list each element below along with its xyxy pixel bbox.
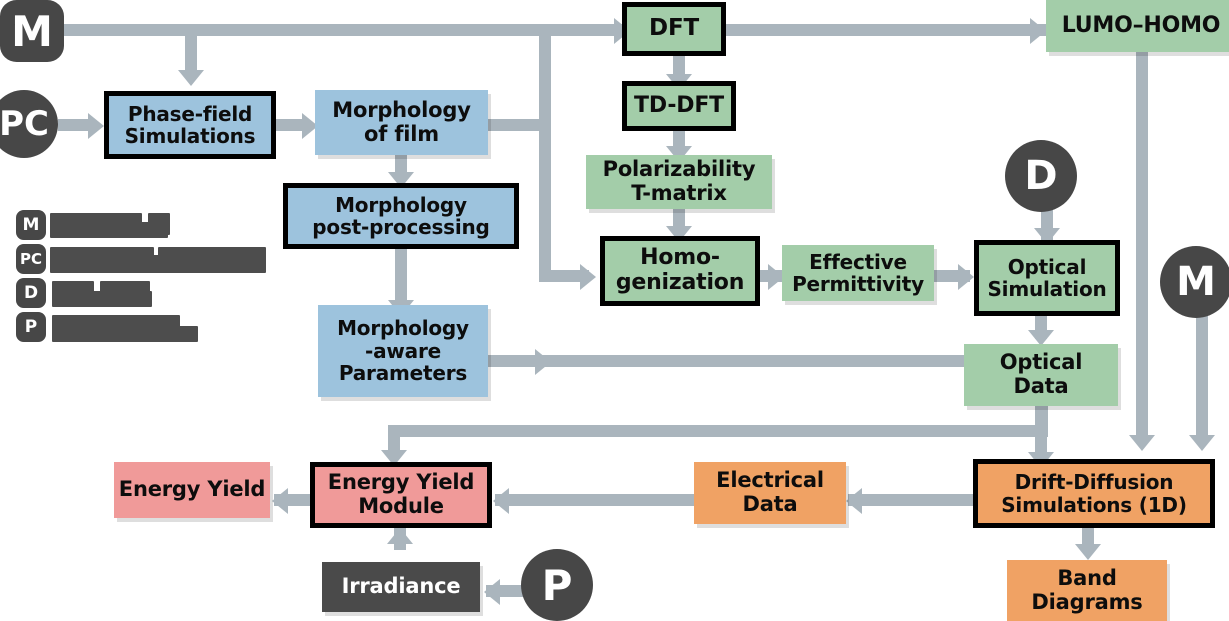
node-optical-simulation-label: Optical Simulation	[987, 256, 1106, 301]
arrow-lumo-into-drift	[1129, 435, 1155, 451]
legend-row-d: D	[16, 278, 296, 312]
node-morphology-aware-parameters[interactable]: Morphology -aware Parameters	[318, 305, 488, 397]
connector-post-to-aware	[395, 249, 407, 305]
arrow-aware-right-tick	[535, 349, 551, 375]
node-morphology-aware-label: Morphology -aware Parameters	[337, 317, 469, 384]
legend-row-pc: PC	[16, 244, 296, 278]
node-optical-simulation[interactable]: Optical Simulation	[974, 240, 1120, 316]
connector-m-right-down	[1196, 310, 1208, 440]
arrow-p-into-irradiance	[484, 579, 500, 605]
badge-d-right-label: D	[1024, 153, 1057, 199]
arrow-into-phasefield-top	[178, 70, 204, 86]
legend-label-pc-redacted-3	[50, 255, 266, 273]
node-optical-data[interactable]: Optical Data	[964, 344, 1118, 406]
node-effective-permittivity-label: Effective Permittivity	[792, 251, 924, 296]
connector-dft-to-lumo	[726, 24, 1046, 36]
legend-row-p: P	[16, 312, 296, 346]
legend-label-p-redacted-2	[52, 326, 198, 342]
node-morphology-post-label: Morphology post-processing	[312, 194, 489, 239]
node-energy-yield-module[interactable]: Energy Yield Module	[310, 462, 492, 528]
node-irradiance[interactable]: Irradiance	[322, 562, 480, 612]
connector-bus-down-center	[539, 24, 551, 276]
arrow-m-right-into-drift	[1189, 435, 1215, 451]
connector-aware-right	[488, 355, 1038, 367]
legend: M PC D P	[16, 210, 296, 346]
badge-m-top-left[interactable]: M	[0, 0, 64, 62]
legend-label-d-redacted-3	[52, 291, 152, 307]
legend-badge-p: P	[16, 312, 46, 342]
badge-d-right[interactable]: D	[1005, 140, 1077, 212]
node-polarizability-label: Polarizability T-matrix	[603, 158, 756, 205]
connector-drift-to-electrical	[848, 494, 973, 506]
node-electrical-data[interactable]: Electrical Data	[694, 462, 846, 524]
arrow-into-band-diagrams	[1075, 544, 1101, 560]
arrow-into-eym-from-electrical	[493, 488, 509, 514]
arrow-into-homogenization	[580, 264, 596, 290]
arrow-into-optical-simulation	[958, 264, 974, 290]
legend-badge-d-label: D	[24, 283, 38, 303]
legend-badge-pc-label: PC	[20, 250, 42, 268]
node-dft-label: DFT	[649, 16, 699, 42]
node-electrical-data-label: Electrical Data	[716, 469, 824, 516]
node-irradiance-label: Irradiance	[342, 575, 461, 599]
connector-lower-bus	[388, 425, 1048, 437]
arrow-into-energy-yield	[272, 488, 288, 514]
legend-badge-m-label: M	[23, 215, 40, 235]
node-td-dft[interactable]: TD-DFT	[622, 81, 736, 131]
node-phase-field-label: Phase-field Simulations	[125, 103, 256, 148]
badge-pc-left[interactable]: PC	[0, 90, 58, 158]
connector-pc-to-phasefield	[58, 119, 92, 131]
node-polarizability[interactable]: Polarizability T-matrix	[586, 155, 772, 209]
node-lumo-homo-label: LUMO–HOMO	[1062, 14, 1221, 39]
legend-badge-p-label: P	[25, 317, 37, 337]
node-td-dft-label: TD-DFT	[634, 94, 724, 119]
node-band-diagrams[interactable]: Band Diagrams	[1007, 560, 1167, 621]
node-band-diagrams-label: Band Diagrams	[1031, 567, 1142, 614]
legend-badge-m: M	[16, 210, 46, 240]
node-morphology-post-processing[interactable]: Morphology post-processing	[283, 183, 519, 249]
node-phase-field-simulations[interactable]: Phase-field Simulations	[104, 91, 276, 159]
node-energy-yield-module-label: Energy Yield Module	[328, 471, 474, 518]
node-morphology-of-film-label: Morphology of film	[332, 99, 470, 146]
badge-p-bottom-label: P	[542, 561, 573, 610]
badge-m-right-label: M	[1176, 259, 1216, 305]
node-homogenization[interactable]: Homo- genization	[600, 236, 760, 306]
badge-m-top-left-label: M	[11, 7, 53, 56]
legend-badge-pc: PC	[16, 244, 46, 274]
node-optical-data-label: Optical Data	[1000, 351, 1083, 398]
badge-m-right[interactable]: M	[1160, 246, 1229, 318]
node-drift-diffusion-simulations[interactable]: Drift-Diffusion Simulations (1D)	[973, 459, 1215, 528]
arrow-irradiance-into-eym	[387, 528, 413, 544]
node-morphology-of-film[interactable]: Morphology of film	[315, 90, 488, 155]
arrow-into-electrical-data	[846, 488, 862, 514]
arrow-into-lumo	[1030, 18, 1046, 44]
legend-label-m-redacted-3	[50, 222, 168, 238]
legend-row-m: M	[16, 210, 296, 244]
badge-p-bottom[interactable]: P	[521, 549, 593, 621]
connector-morphology-to-bus	[488, 119, 545, 131]
connector-electrical-to-eym	[495, 494, 695, 506]
workflow-diagram: DFT LUMO–HOMO TD-DFT Polarizability T-ma…	[0, 0, 1229, 621]
node-energy-yield-label: Energy Yield	[119, 478, 265, 502]
node-drift-diffusion-label: Drift-Diffusion Simulations (1D)	[1001, 471, 1187, 516]
connector-m-to-phasefield	[185, 24, 197, 72]
connector-lumo-down	[1136, 52, 1148, 440]
node-effective-permittivity[interactable]: Effective Permittivity	[782, 245, 934, 301]
node-lumo-homo[interactable]: LUMO–HOMO	[1046, 0, 1229, 52]
legend-badge-d: D	[16, 278, 46, 308]
node-homogenization-label: Homo- genization	[616, 246, 744, 295]
badge-pc-left-label: PC	[0, 104, 49, 144]
node-energy-yield[interactable]: Energy Yield	[114, 462, 270, 518]
arrow-pc-to-phasefield	[88, 113, 104, 139]
node-dft[interactable]: DFT	[622, 2, 726, 56]
